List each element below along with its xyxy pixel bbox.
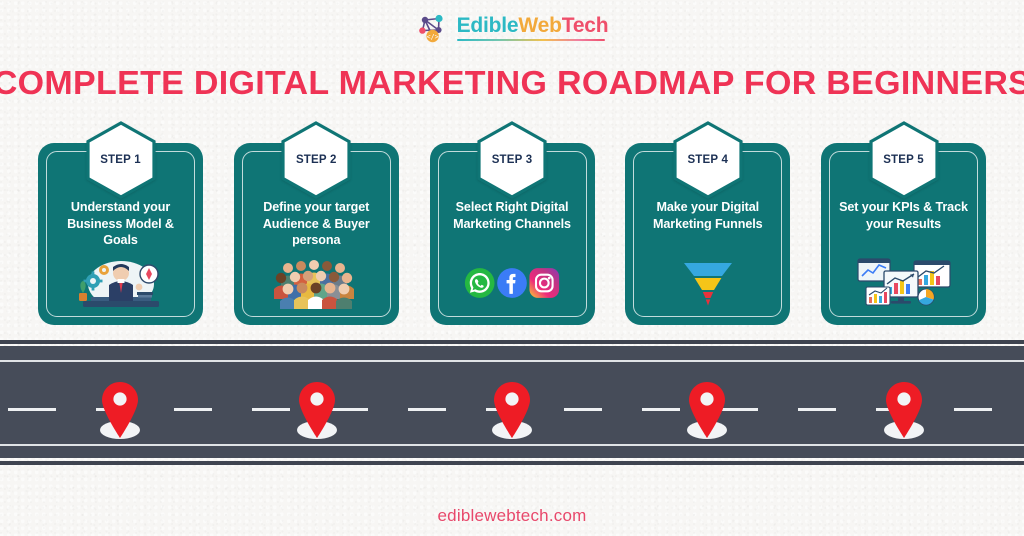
network-nodes-icon: </> <box>416 11 450 45</box>
step-card-1[interactable]: STEP 1 Understand your Business Model & … <box>38 143 203 325</box>
crowd-of-people-icon <box>268 257 364 309</box>
brand-word-tech: Tech <box>562 14 609 37</box>
page-title: COMPLETE DIGITAL MARKETING ROADMAP FOR B… <box>0 66 1024 99</box>
step-badge-5: STEP 5 <box>868 121 940 199</box>
step-badge-3: STEP 3 <box>476 121 548 199</box>
road-line-upper <box>0 360 1024 362</box>
map-pin-icon-4[interactable] <box>685 380 729 442</box>
brand-wordmark: EdibleWebTech <box>457 15 609 41</box>
step-title-2: Define your target Audience & Buyer pers… <box>246 199 387 249</box>
map-pin-icon-2[interactable] <box>295 380 339 442</box>
step-badge-4: STEP 4 <box>672 121 744 199</box>
step-badge-label: STEP 2 <box>280 154 352 166</box>
road-bottom-edge <box>0 461 1024 465</box>
steps-row: STEP 1 Understand your Business Model & … <box>38 143 986 325</box>
map-pin-icon-3[interactable] <box>490 380 534 442</box>
step-card-4[interactable]: STEP 4 Make your Digital Marketing Funne… <box>625 143 790 325</box>
social-media-icons <box>464 257 560 309</box>
step-badge-label: STEP 4 <box>672 154 744 166</box>
step-title-5: Set your KPIs & Track your Results <box>833 199 974 232</box>
brand-logo: </> EdibleWebTech <box>0 11 1024 45</box>
road-line-lower <box>0 444 1024 446</box>
step-badge-1: STEP 1 <box>85 121 157 199</box>
businessman-at-desk-icon <box>73 257 169 309</box>
step-title-4: Make your Digital Marketing Funnels <box>637 199 778 232</box>
brand-word-web: Web <box>518 14 561 37</box>
step-card-5[interactable]: STEP 5 Set your KPIs & Track your Result… <box>821 143 986 325</box>
road-surface <box>0 346 1024 458</box>
step-badge-label: STEP 3 <box>476 154 548 166</box>
brand-underline-accent <box>457 39 605 41</box>
svg-text:</>: </> <box>426 33 438 41</box>
step-title-3: Select Right Digital Marketing Channels <box>442 199 583 232</box>
step-badge-label: STEP 5 <box>868 154 940 166</box>
road-top-edge <box>0 340 1024 344</box>
infographic-stage: </> EdibleWebTech COMPLETE DIGITAL MARKE… <box>0 0 1024 536</box>
footer-website[interactable]: ediblewebtech.com <box>0 506 1024 526</box>
brand-word-edible: Edible <box>457 14 519 37</box>
step-badge-label: STEP 1 <box>85 154 157 166</box>
roadmap-road <box>0 340 1024 465</box>
map-pin-icon-1[interactable] <box>98 380 142 442</box>
step-badge-2: STEP 2 <box>280 121 352 199</box>
step-title-1: Understand your Business Model & Goals <box>50 199 191 249</box>
step-card-2[interactable]: STEP 2 Define your target Audience & Buy… <box>234 143 399 325</box>
marketing-funnel-icon <box>660 257 756 309</box>
map-pin-icon-5[interactable] <box>882 380 926 442</box>
analytics-dashboard-icon <box>856 257 952 309</box>
step-card-3[interactable]: STEP 3 Select Right Digital Marketing Ch… <box>430 143 595 325</box>
